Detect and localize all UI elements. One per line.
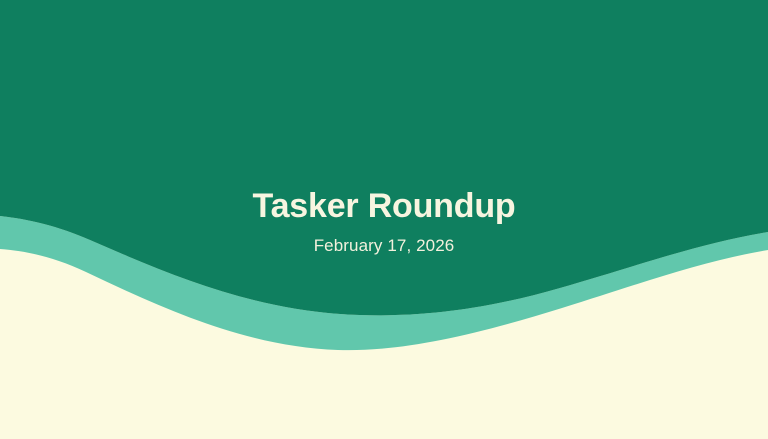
wave-background <box>0 0 768 439</box>
title-slide: Tasker Roundup February 17, 2026 <box>0 0 768 439</box>
